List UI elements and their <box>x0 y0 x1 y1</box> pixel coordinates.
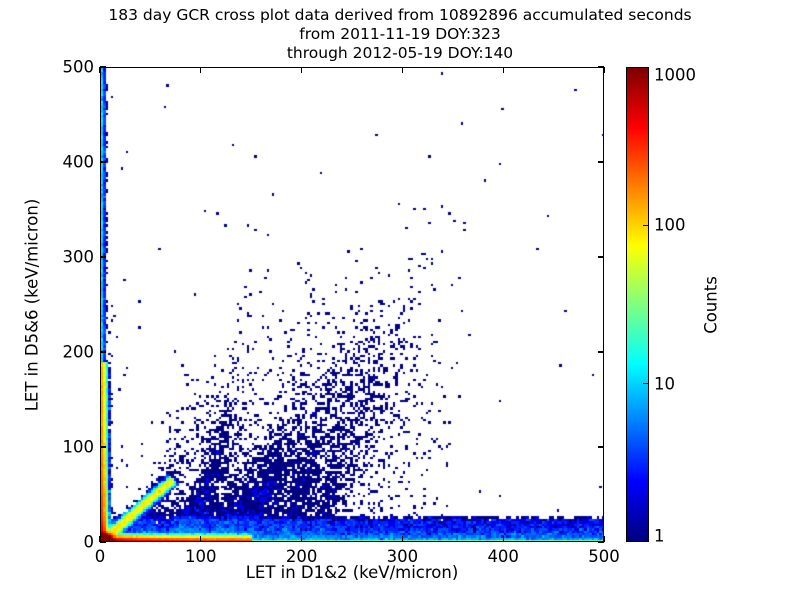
y-tick-label-100: 100 <box>52 438 94 457</box>
colorbar-tick-10 <box>643 383 649 384</box>
y-tick-right-200 <box>598 351 604 352</box>
x-tick-400 <box>503 536 504 542</box>
y-tick-label-0: 0 <box>52 533 94 552</box>
colorbar-tick-label-100: 100 <box>654 216 686 235</box>
x-tick-200 <box>301 536 302 542</box>
y-axis-title: LET in D5&6 (keV/micron) <box>23 198 42 411</box>
y-tick-label-200: 200 <box>52 343 94 362</box>
title-line-3: through 2012-05-19 DOY:140 <box>0 44 800 63</box>
histogram-canvas <box>101 68 604 542</box>
y-tick-100 <box>100 446 106 447</box>
colorbar <box>626 67 649 542</box>
title-line-1: 183 day GCR cross plot data derived from… <box>0 6 800 25</box>
y-tick-right-300 <box>598 256 604 257</box>
colorbar-tick-label-10: 10 <box>654 374 675 393</box>
x-tick-300 <box>402 536 403 542</box>
y-tick-500 <box>100 66 106 67</box>
colorbar-tick-100 <box>643 225 649 226</box>
y-tick-right-400 <box>598 161 604 162</box>
y-tick-right-0 <box>598 541 604 542</box>
y-tick-label-300: 300 <box>52 248 94 267</box>
x-tick-top-300 <box>402 67 403 73</box>
y-tick-label-400: 400 <box>52 153 94 172</box>
x-tick-top-400 <box>503 67 504 73</box>
colorbar-gradient <box>627 68 648 541</box>
colorbar-title: Counts <box>702 276 721 334</box>
y-tick-300 <box>100 256 106 257</box>
x-tick-top-0 <box>99 67 100 73</box>
y-tick-right-100 <box>598 446 604 447</box>
y-tick-right-500 <box>598 66 604 67</box>
x-axis-title: LET in D1&2 (keV/micron) <box>100 563 604 582</box>
figure-root: 183 day GCR cross plot data derived from… <box>0 0 800 600</box>
y-tick-0 <box>100 541 106 542</box>
colorbar-tick-label-1: 1 <box>654 527 665 546</box>
figure-title: 183 day GCR cross plot data derived from… <box>0 6 800 63</box>
y-tick-400 <box>100 161 106 162</box>
y-tick-label-500: 500 <box>52 58 94 77</box>
x-tick-100 <box>200 536 201 542</box>
x-tick-top-500 <box>603 67 604 73</box>
title-line-2: from 2011-11-19 DOY:323 <box>0 25 800 44</box>
colorbar-tick-label-1000: 1000 <box>654 66 696 85</box>
x-tick-top-100 <box>200 67 201 73</box>
y-tick-200 <box>100 351 106 352</box>
plot-area <box>100 67 604 542</box>
x-tick-top-200 <box>301 67 302 73</box>
